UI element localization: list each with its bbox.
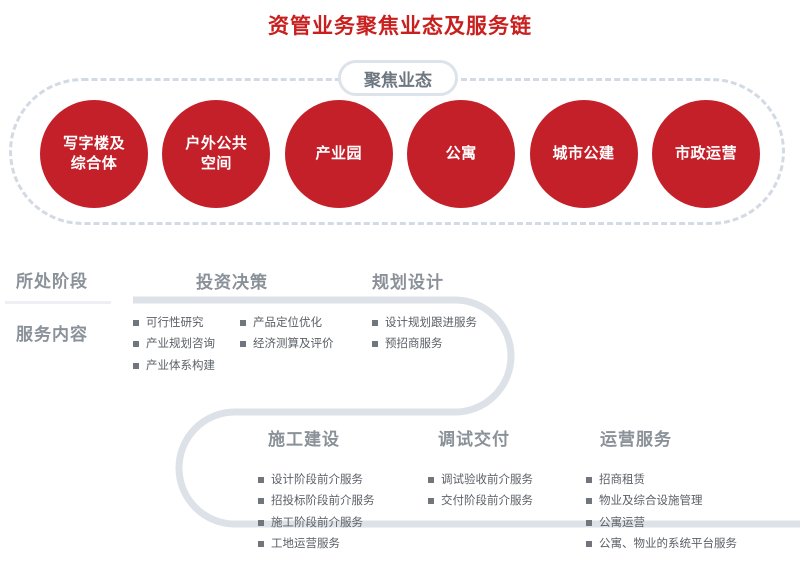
service-list-commissioning: 调试验收前介服务 交付阶段前介服务	[428, 470, 533, 513]
list-item-label: 产业体系构建	[146, 356, 215, 377]
list-item: 产业规划咨询	[133, 334, 215, 355]
list-item-label: 产业规划咨询	[146, 334, 215, 355]
list-item: 公寓运营	[586, 513, 737, 534]
service-list-construction: 设计阶段前介服务 招投标阶段前介服务 施工阶段前介服务 工地运营服务	[258, 470, 375, 555]
list-item-label: 预招商服务	[385, 334, 443, 355]
business-circle[interactable]: 产业园	[285, 100, 393, 208]
service-list-investment-second: 产品定位优化 经济测算及评价	[240, 313, 334, 356]
stage-header-planning: 规划设计	[372, 268, 444, 293]
square-bullet-icon	[240, 341, 246, 347]
stage-header-operation: 运营服务	[600, 425, 672, 450]
list-item-label: 产品定位优化	[253, 313, 322, 334]
square-bullet-icon	[240, 320, 246, 326]
list-item-label: 工地运营服务	[271, 534, 340, 555]
service-list-investment: 可行性研究 产业规划咨询 产业体系构建	[133, 313, 215, 377]
square-bullet-icon	[586, 520, 592, 526]
list-item: 产品定位优化	[240, 313, 334, 334]
list-item-label: 交付阶段前介服务	[441, 491, 533, 512]
business-circle[interactable]: 市政运营	[652, 100, 760, 208]
row-label-service: 服务内容	[16, 320, 88, 345]
business-circle[interactable]: 户外公共 空间	[162, 100, 270, 208]
business-circle[interactable]: 写字楼及 综合体	[40, 100, 148, 208]
list-item: 施工阶段前介服务	[258, 513, 375, 534]
square-bullet-icon	[586, 477, 592, 483]
list-item-label: 设计阶段前介服务	[271, 470, 363, 491]
business-circle-line1: 市政运营	[675, 144, 737, 164]
list-item: 招商租赁	[586, 470, 737, 491]
list-item: 经济测算及评价	[240, 334, 334, 355]
row-label-divider	[5, 301, 111, 304]
list-item-label: 招投标阶段前介服务	[271, 491, 375, 512]
square-bullet-icon	[258, 498, 264, 504]
business-circle-line2: 空间	[201, 155, 232, 172]
business-circle-line1: 产业园	[316, 144, 363, 164]
square-bullet-icon	[258, 520, 264, 526]
square-bullet-icon	[372, 320, 378, 326]
list-item-label: 可行性研究	[146, 313, 204, 334]
business-circle-line1: 城市公建	[553, 144, 615, 164]
list-item-label: 施工阶段前介服务	[271, 513, 363, 534]
list-item-label: 公寓、物业的系统平台服务	[599, 534, 737, 555]
square-bullet-icon	[586, 498, 592, 504]
list-item-label: 招商租赁	[599, 470, 645, 491]
square-bullet-icon	[428, 477, 434, 483]
list-item: 可行性研究	[133, 313, 215, 334]
list-item: 预招商服务	[372, 334, 477, 355]
list-item: 调试验收前介服务	[428, 470, 533, 491]
list-item: 设计阶段前介服务	[258, 470, 375, 491]
service-list-operation: 招商租赁 物业及综合设施管理 公寓运营 公寓、物业的系统平台服务	[586, 470, 737, 555]
list-item-label: 调试验收前介服务	[441, 470, 533, 491]
square-bullet-icon	[258, 541, 264, 547]
square-bullet-icon	[133, 363, 139, 369]
list-item-label: 物业及综合设施管理	[599, 491, 703, 512]
business-circle-row: 写字楼及 综合体 户外公共 空间 产业园 公寓 城市公建 市政运营	[40, 99, 760, 209]
square-bullet-icon	[133, 320, 139, 326]
list-item: 工地运营服务	[258, 534, 375, 555]
focus-pill-label: 聚焦业态	[338, 60, 458, 96]
service-list-planning: 设计规划跟进服务 预招商服务	[372, 313, 477, 356]
business-circle-line2: 综合体	[71, 155, 118, 172]
list-item-label: 公寓运营	[599, 513, 645, 534]
list-item: 招投标阶段前介服务	[258, 491, 375, 512]
square-bullet-icon	[428, 498, 434, 504]
list-item: 设计规划跟进服务	[372, 313, 477, 334]
page-title: 资管业务聚焦业态及服务链	[0, 10, 800, 40]
list-item-label: 设计规划跟进服务	[385, 313, 477, 334]
business-circle-line1: 公寓	[446, 144, 477, 164]
business-circle[interactable]: 公寓	[407, 100, 515, 208]
square-bullet-icon	[586, 541, 592, 547]
square-bullet-icon	[258, 477, 264, 483]
list-item: 物业及综合设施管理	[586, 491, 737, 512]
list-item: 产业体系构建	[133, 356, 215, 377]
list-item-label: 经济测算及评价	[253, 334, 334, 355]
square-bullet-icon	[372, 341, 378, 347]
business-circle-line1: 户外公共	[185, 135, 247, 152]
list-item: 交付阶段前介服务	[428, 491, 533, 512]
diagram-canvas: 资管业务聚焦业态及服务链 聚焦业态 写字楼及 综合体 户外公共 空间 产业园 公…	[0, 0, 800, 566]
business-circle-line1: 写字楼及	[63, 135, 125, 152]
square-bullet-icon	[133, 341, 139, 347]
stage-header-investment: 投资决策	[196, 268, 268, 293]
list-item: 公寓、物业的系统平台服务	[586, 534, 737, 555]
business-circle[interactable]: 城市公建	[530, 100, 638, 208]
stage-header-construction: 施工建设	[268, 425, 340, 450]
row-label-stage: 所处阶段	[16, 267, 88, 292]
stage-header-commissioning: 调试交付	[438, 425, 510, 450]
